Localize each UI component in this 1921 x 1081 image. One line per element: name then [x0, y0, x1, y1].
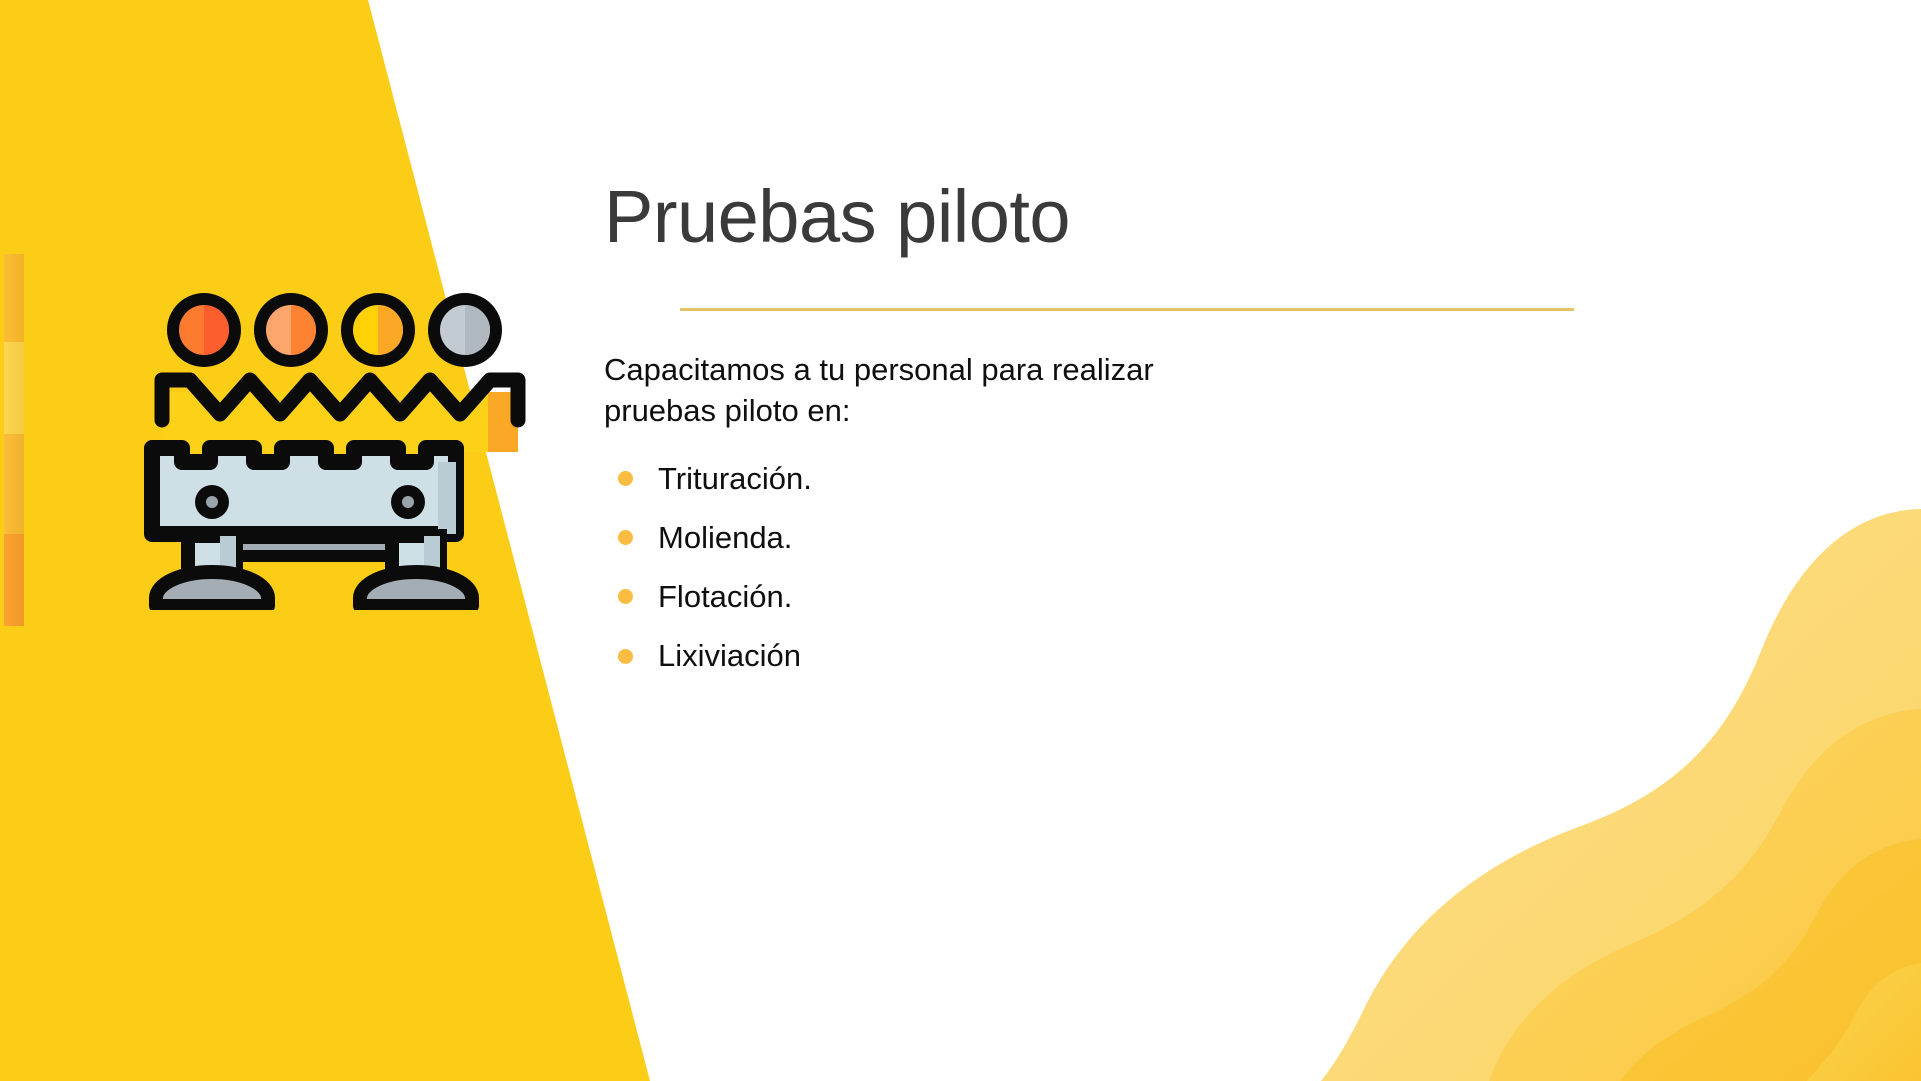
sample-circle-orange — [167, 293, 241, 367]
intro-line-2: pruebas piloto en: — [604, 390, 1164, 432]
laboratory-burner-icon — [140, 280, 540, 610]
bullet-label: Lixiviación — [658, 639, 801, 673]
left-accent-strip — [4, 254, 24, 626]
bullet-label: Molienda. — [658, 521, 792, 555]
bullet-label: Flotación. — [658, 580, 792, 614]
list-item: Flotación. — [604, 580, 1604, 614]
page-title: Pruebas piloto — [604, 178, 1604, 256]
burner-foot-left — [156, 572, 268, 606]
list-item: Trituración. — [604, 462, 1604, 496]
list-item: Lixiviación — [604, 639, 1604, 673]
burner-foot-right — [360, 572, 472, 606]
bullet-dot-icon — [618, 530, 633, 545]
intro-paragraph: Capacitamos a tu personal para realizar … — [604, 349, 1164, 432]
burner-body — [152, 448, 456, 534]
bullet-dot-icon — [618, 649, 633, 664]
sample-circle-salmon — [254, 293, 328, 367]
bullet-dot-icon — [618, 471, 633, 486]
bullet-dot-icon — [618, 589, 633, 604]
slide-canvas: Pruebas piloto Capacitamos a tu personal… — [0, 0, 1921, 1081]
bullet-label: Trituración. — [658, 462, 812, 496]
bullet-list: Trituración. Molienda. Flotación. Lixivi… — [604, 462, 1604, 673]
content-column: Pruebas piloto Capacitamos a tu personal… — [604, 178, 1604, 673]
list-item: Molienda. — [604, 521, 1604, 555]
intro-line-1: Capacitamos a tu personal para realizar — [604, 349, 1164, 391]
title-divider-rule — [680, 308, 1574, 311]
sample-circle-gray — [428, 293, 502, 367]
sample-circle-yellow — [341, 293, 415, 367]
